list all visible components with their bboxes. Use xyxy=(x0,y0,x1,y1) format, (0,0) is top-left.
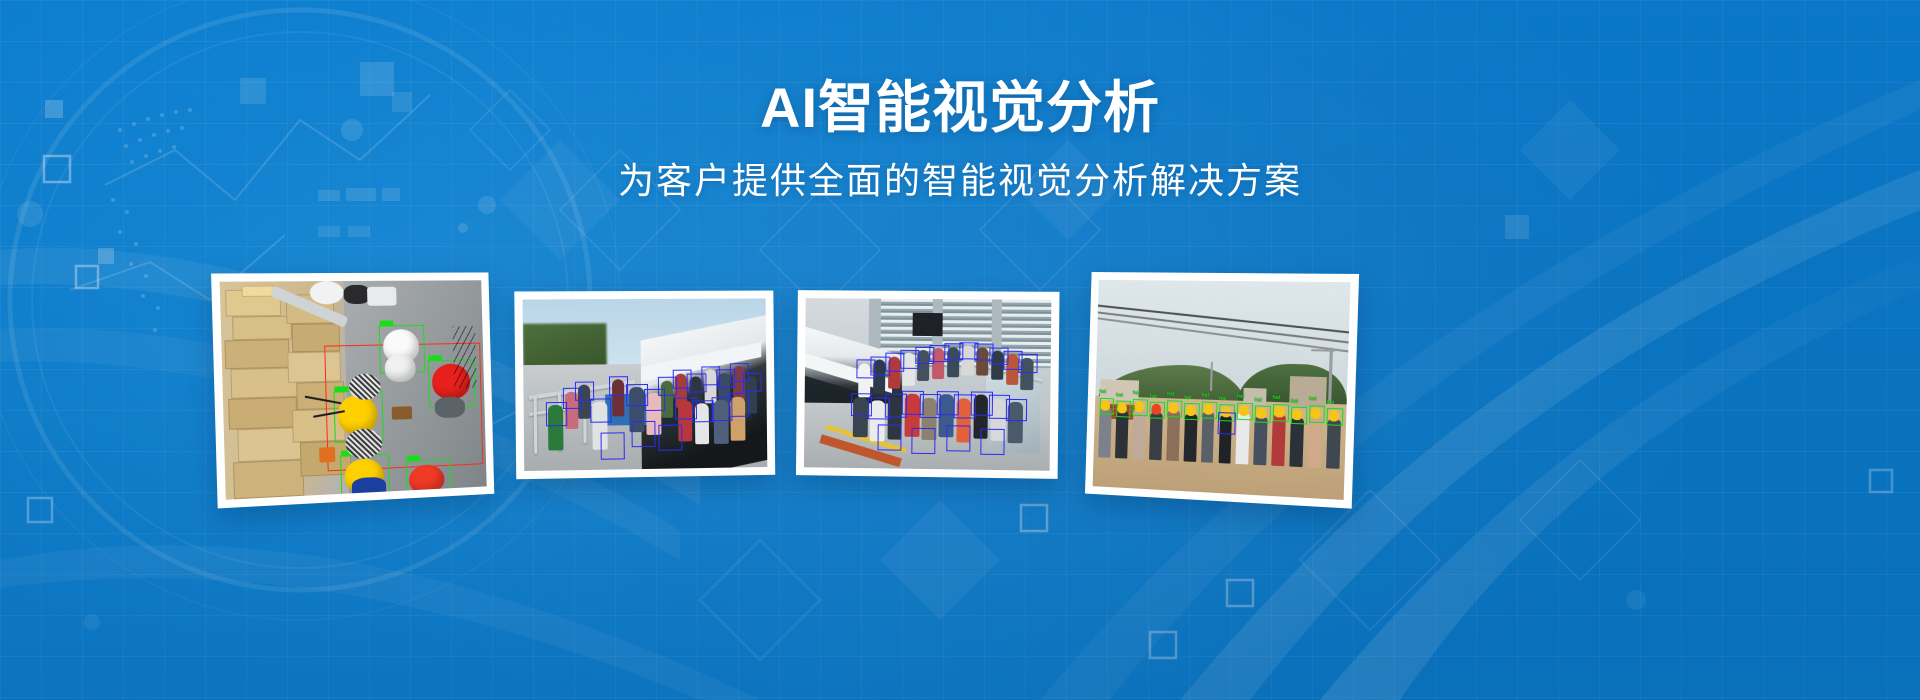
gallery-item-platform-crowd-detection[interactable] xyxy=(796,290,1060,479)
platform-crowd-photo xyxy=(804,298,1051,471)
warehouse-helmet-photo xyxy=(220,280,487,500)
footbridge-crowd-photo xyxy=(522,298,767,471)
gallery-item-warehouse-helmet-detection[interactable] xyxy=(211,272,494,508)
photo-frame xyxy=(220,280,487,500)
photo-frame xyxy=(522,298,767,471)
ai-vision-hero-banner: AI智能视觉分析 为客户提供全面的智能视觉分析解决方案 xyxy=(0,0,1920,700)
photo-frame: hat hat hat hat hat xyxy=(1093,280,1351,500)
page-title: AI智能视觉分析 xyxy=(0,78,1920,137)
construction-site-photo: hat hat hat hat hat xyxy=(1093,280,1351,500)
photo-frame xyxy=(804,298,1051,471)
hero-text-block: AI智能视觉分析 为客户提供全面的智能视觉分析解决方案 xyxy=(0,78,1920,203)
page-subtitle: 为客户提供全面的智能视觉分析解决方案 xyxy=(0,159,1920,202)
gallery-item-construction-site-hat-detection[interactable]: hat hat hat hat hat xyxy=(1085,272,1359,509)
gallery-item-station-crowd-face-detection[interactable] xyxy=(514,291,775,480)
screenshot-gallery: hat hat hat hat hat xyxy=(0,265,1920,525)
